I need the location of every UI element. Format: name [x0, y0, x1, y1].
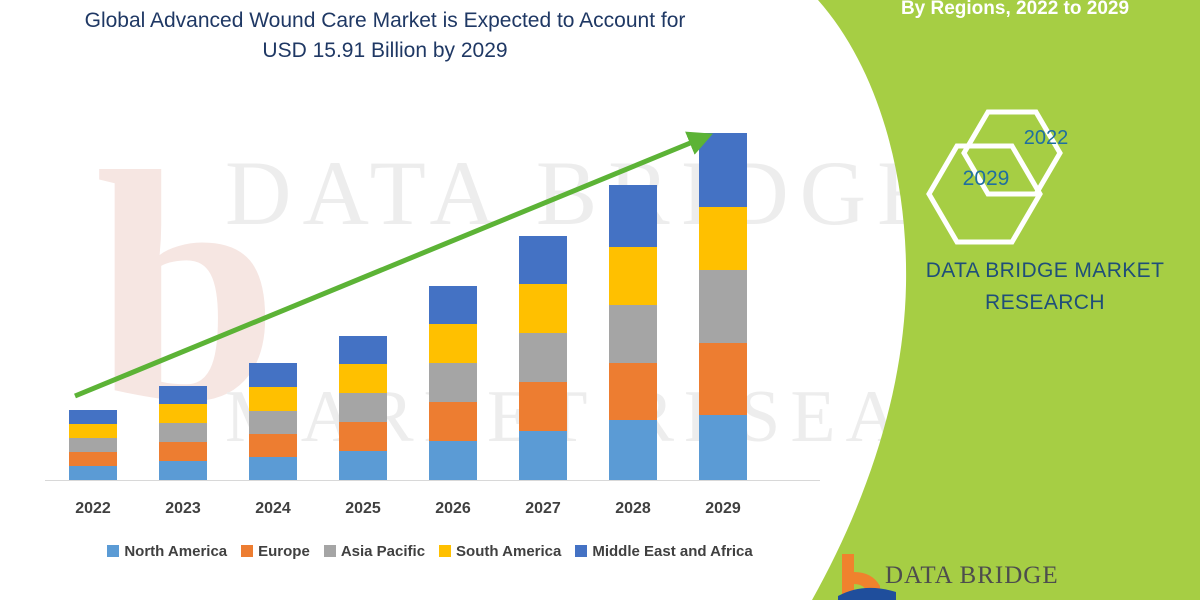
legend-swatch-icon — [107, 545, 119, 557]
legend-item[interactable]: South America — [439, 543, 561, 560]
hexagon-2029-label: 2029 — [940, 167, 1032, 191]
legend-item[interactable]: Europe — [241, 543, 310, 560]
hexagon-2022-label: 2022 — [1003, 127, 1089, 150]
growth-arrow-icon — [0, 0, 820, 600]
legend-label: North America — [124, 543, 227, 560]
infographic-canvas: b DATA BRIDGE MARKET RESEARCH 2022 2029 … — [0, 0, 1200, 600]
stacked-bar-chart: 20222023202420252026202720282029 — [0, 0, 820, 600]
legend-label: South America — [456, 543, 561, 560]
legend-swatch-icon — [241, 545, 253, 557]
panel-subtitle: By Regions, 2022 to 2029 — [835, 0, 1195, 20]
data-bridge-logo-text: DATA BRIDGE — [885, 562, 1145, 590]
legend-item[interactable]: Middle East and Africa — [575, 543, 752, 560]
legend-label: Europe — [258, 543, 310, 560]
legend-swatch-icon — [575, 545, 587, 557]
legend-item[interactable]: Asia Pacific — [324, 543, 425, 560]
legend-label: Asia Pacific — [341, 543, 425, 560]
legend-swatch-icon — [324, 545, 336, 557]
legend-label: Middle East and Africa — [592, 543, 752, 560]
chart-legend: North AmericaEuropeAsia PacificSouth Ame… — [40, 540, 820, 562]
legend-item[interactable]: North America — [107, 543, 227, 560]
legend-swatch-icon — [439, 545, 451, 557]
brand-name: DATA BRIDGE MARKET RESEARCH — [895, 255, 1195, 319]
